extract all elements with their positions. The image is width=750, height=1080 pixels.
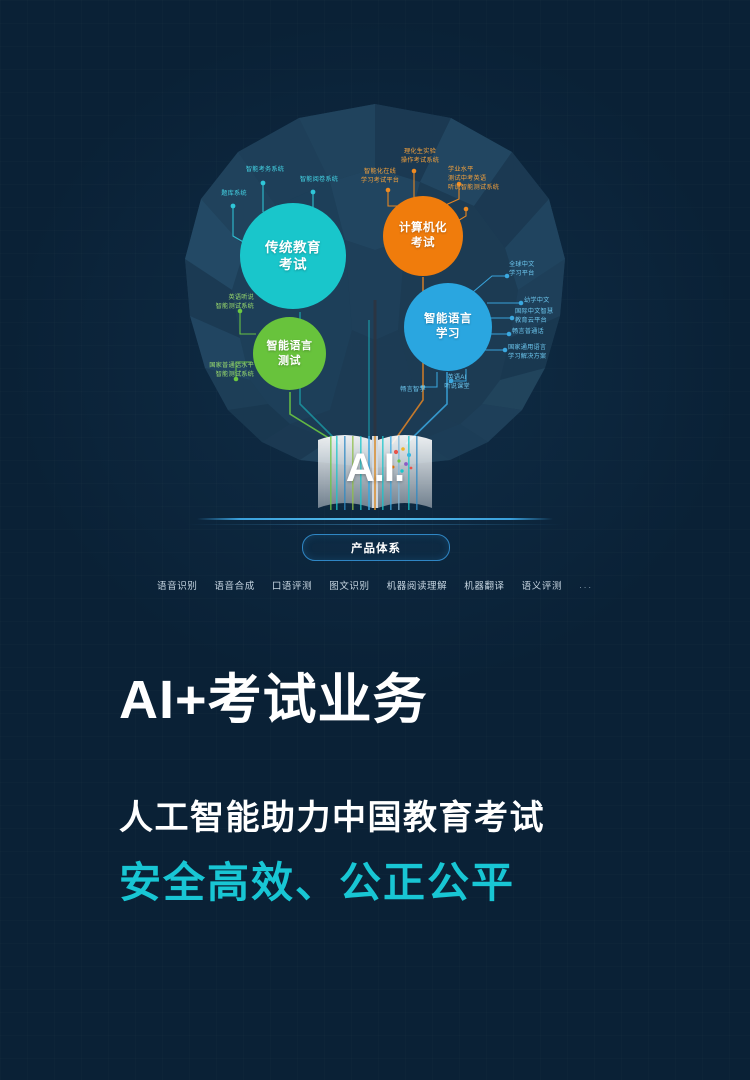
leaf-science-lab-operation-exam-system[interactable]: 理化生实验 操作考试系统 bbox=[382, 148, 458, 166]
tag-speech-recognition[interactable]: 语音识别 bbox=[157, 578, 197, 592]
leaf-smart-exam-admin-system[interactable]: 智能考务系统 bbox=[230, 166, 300, 175]
capability-tag-row: 语音识别 语音合成 口语评测 图文识别 机器阅读理解 机器翻译 语义评测 ... bbox=[0, 578, 750, 592]
leaf-english-listening-speaking-smart-test-system[interactable]: 英语听说 智能测试系统 bbox=[180, 294, 254, 312]
node-label: 传统教育 考试 bbox=[265, 239, 321, 274]
ai-wordmark: A.I. bbox=[318, 446, 432, 491]
tag-machine-translation[interactable]: 机器翻译 bbox=[464, 578, 504, 592]
poster-canvas: A.I. 传统教育 考试 计算机化 考试 智能语言 学习 智能语言 测试 智能考… bbox=[0, 0, 750, 1080]
node-intelligent-language-learning[interactable]: 智能语言 学习 bbox=[404, 283, 492, 371]
page-title: AI+考试业务 bbox=[119, 673, 679, 727]
ai-exam-diagram: A.I. 传统教育 考试 计算机化 考试 智能语言 学习 智能语言 测试 智能考… bbox=[0, 0, 750, 640]
node-intelligent-language-testing[interactable]: 智能语言 测试 bbox=[253, 317, 326, 390]
node-computerized-exam[interactable]: 计算机化 考试 bbox=[383, 196, 463, 276]
node-label: 智能语言 测试 bbox=[267, 339, 313, 367]
leaf-global-chinese-learning-platform[interactable]: 全球中文 学习平台 bbox=[509, 261, 575, 279]
baseline-rule bbox=[197, 518, 553, 520]
tag-machine-reading-comprehension[interactable]: 机器阅读理解 bbox=[387, 578, 448, 592]
node-label: 智能语言 学习 bbox=[424, 312, 472, 341]
node-traditional-education-exam[interactable]: 传统教育 考试 bbox=[240, 203, 346, 309]
leaf-changyan-smart-learning[interactable]: 畅言智学 bbox=[389, 386, 437, 395]
tag-more-ellipsis: ... bbox=[579, 580, 593, 591]
leaf-question-bank-system[interactable]: 题库系统 bbox=[207, 190, 261, 199]
headline-block: AI+考试业务 人工智能助力中国教育考试 安全高效、公正公平 bbox=[119, 673, 679, 904]
leaf-online-learning-exam-platform[interactable]: 智能化在线 学习考试平台 bbox=[342, 168, 418, 186]
baseline-rule-secondary bbox=[186, 524, 564, 525]
leaf-national-putonghua-proficiency-smart-test-system[interactable]: 国家普通话水平 智能测试系统 bbox=[172, 362, 254, 380]
node-label: 计算机化 考试 bbox=[399, 221, 447, 250]
tag-oral-assessment[interactable]: 口语评测 bbox=[272, 578, 312, 592]
leaf-kids-learn-chinese[interactable]: 幼学中文 bbox=[524, 297, 584, 306]
product-system-label: 产品体系 bbox=[351, 540, 401, 556]
tag-semantic-assessment[interactable]: 语义评测 bbox=[522, 578, 562, 592]
leaf-international-chinese-smart-education-cloud[interactable]: 国际中文智慧 教育云平台 bbox=[515, 308, 587, 326]
leaf-academic-level-english-listening-speaking-test-system[interactable]: 学业水平 测试中考英语 听说智能测试系统 bbox=[448, 166, 540, 193]
tag-image-text-recognition[interactable]: 图文识别 bbox=[329, 578, 369, 592]
leaf-changyan-putonghua[interactable]: 畅言普通话 bbox=[512, 328, 578, 337]
accent-tagline: 安全高效、公正公平 bbox=[119, 862, 679, 904]
subtitle: 人工智能助力中国教育考试 bbox=[119, 801, 679, 835]
leaf-english-ai-listening-speaking-class[interactable]: 英语AI 听说课堂 bbox=[430, 374, 484, 392]
leaf-national-language-learning-solution[interactable]: 国家通用语言 学习解决方案 bbox=[508, 344, 580, 362]
product-system-chip[interactable]: 产品体系 bbox=[302, 534, 450, 561]
tag-speech-synthesis[interactable]: 语音合成 bbox=[214, 578, 254, 592]
